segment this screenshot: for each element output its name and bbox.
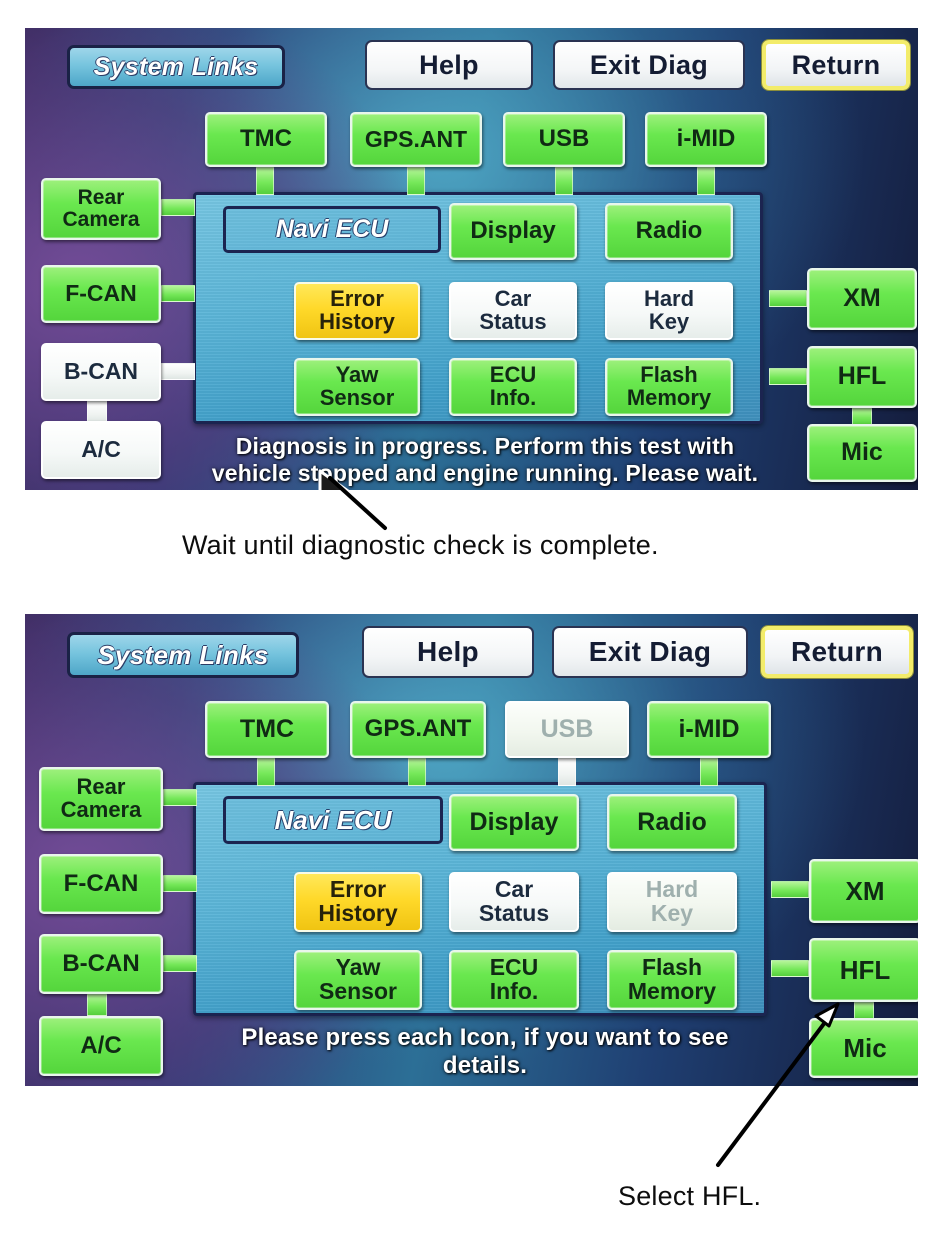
node-flash-memory[interactable]: Flash Memory [605,358,733,416]
node-line-1: Car [495,878,533,902]
node-hard-key[interactable]: Hard Key [605,282,733,340]
node-ac[interactable]: A/C [41,421,161,479]
status-line-2: details. [175,1052,795,1080]
caption-select-hfl: Select HFL. [618,1181,761,1212]
connector-tmc [256,167,274,195]
help-button[interactable]: Help [365,40,533,90]
status-message: Please press each Icon, if you want to s… [175,1024,795,1080]
node-line-2: History [318,902,397,926]
caption-wait-until-complete: Wait until diagnostic check is complete. [182,530,659,561]
node-display[interactable]: Display [449,794,579,851]
status-line-2: vehicle stopped and engine running. Plea… [175,460,795,487]
node-gps-ant[interactable]: GPS.ANT [350,112,482,167]
exit-diag-button[interactable]: Exit Diag [552,626,748,678]
node-car-status[interactable]: Car Status [449,872,579,932]
node-ac[interactable]: A/C [39,1016,163,1076]
node-f-can[interactable]: F-CAN [39,854,163,914]
node-line-2: Status [479,902,549,926]
status-line-1: Diagnosis in progress. Perform this test… [175,433,795,460]
node-line-1: Flash [640,364,697,387]
node-b-can[interactable]: B-CAN [41,343,161,401]
connector-b-can [161,363,195,380]
node-line-2: Info. [490,387,536,410]
node-xm[interactable]: XM [807,268,917,330]
node-rear-camera[interactable]: Rear Camera [41,178,161,240]
node-line-2: Camera [61,799,142,822]
node-flash-memory[interactable]: Flash Memory [607,950,737,1010]
node-ecu-info[interactable]: ECU Info. [449,358,577,416]
status-line-1: Please press each Icon, if you want to s… [175,1024,795,1052]
node-line-1: ECU [490,956,539,980]
exit-diag-button[interactable]: Exit Diag [553,40,745,90]
node-xm[interactable]: XM [809,859,918,923]
connector-rear-camera [163,789,197,806]
system-links-button[interactable]: System Links [67,632,299,678]
connector-xm [769,290,807,307]
node-hfl[interactable]: HFL [809,938,918,1002]
node-hfl[interactable]: HFL [807,346,917,408]
node-line-1: Yaw [336,956,381,980]
node-error-history[interactable]: Error History [294,872,422,932]
node-yaw-sensor[interactable]: Yaw Sensor [294,358,420,416]
diagnostic-screen-panel-1: System Links Help Exit Diag Return TMC G… [25,28,918,490]
node-line-2: Key [649,311,689,334]
connector-ac [87,994,107,1016]
node-radio[interactable]: Radio [605,203,733,260]
connector-tmc [257,758,275,786]
connector-hfl [769,368,807,385]
connector-ac [87,401,107,423]
connector-gps [408,758,426,786]
node-gps-ant[interactable]: GPS.ANT [350,701,486,758]
node-f-can[interactable]: F-CAN [41,265,161,323]
node-line-2: Status [479,311,546,334]
node-line-1: Yaw [336,364,379,387]
mouse-cursor-icon [317,468,363,490]
connector-f-can [161,285,195,302]
node-line-2: Sensor [319,980,397,1004]
node-line-1: Error [330,288,384,311]
node-line-1: ECU [490,364,536,387]
node-b-can[interactable]: B-CAN [39,934,163,994]
connector-i-mid [697,167,715,195]
connector-f-can [163,875,197,892]
node-rear-camera[interactable]: Rear Camera [39,767,163,831]
node-line-2: Memory [627,387,711,410]
node-radio[interactable]: Radio [607,794,737,851]
node-display[interactable]: Display [449,203,577,260]
node-line-1: Car [495,288,532,311]
node-mic[interactable]: Mic [807,424,917,482]
connector-hfl [771,960,809,977]
node-usb[interactable]: USB [505,701,629,758]
node-tmc[interactable]: TMC [205,112,327,167]
return-button[interactable]: Return [762,40,910,90]
system-links-button[interactable]: System Links [67,45,285,89]
node-navi-ecu[interactable]: Navi ECU [223,206,441,253]
node-error-history[interactable]: Error History [294,282,420,340]
connector-gps [407,167,425,195]
diagnostic-screen-panel-2: System Links Help Exit Diag Return TMC G… [25,614,918,1086]
connector-usb [555,167,573,195]
node-line-2: Key [651,902,693,926]
node-line-1: Rear [78,187,125,209]
node-line-1: Rear [77,776,126,799]
return-button[interactable]: Return [761,626,913,678]
node-navi-ecu[interactable]: Navi ECU [223,796,443,844]
node-mic[interactable]: Mic [809,1018,918,1078]
node-line-1: Hard [646,878,698,902]
node-hard-key[interactable]: Hard Key [607,872,737,932]
connector-xm [771,881,809,898]
node-line-2: Camera [62,209,139,231]
connector-i-mid [700,758,718,786]
node-i-mid[interactable]: i-MID [647,701,771,758]
node-line-1: Flash [642,956,702,980]
node-line-1: Hard [644,288,694,311]
node-car-status[interactable]: Car Status [449,282,577,340]
node-line-1: Error [330,878,386,902]
connector-b-can [163,955,197,972]
node-line-2: Memory [628,980,716,1004]
node-usb[interactable]: USB [503,112,625,167]
node-line-2: History [319,311,395,334]
node-i-mid[interactable]: i-MID [645,112,767,167]
node-tmc[interactable]: TMC [205,701,329,758]
connector-rear-camera [161,199,195,216]
node-yaw-sensor[interactable]: Yaw Sensor [294,950,422,1010]
node-line-2: Sensor [320,387,395,410]
status-message: Diagnosis in progress. Perform this test… [175,433,795,486]
help-button[interactable]: Help [362,626,534,678]
node-ecu-info[interactable]: ECU Info. [449,950,579,1010]
connector-usb [558,758,576,786]
node-line-2: Info. [490,980,539,1004]
